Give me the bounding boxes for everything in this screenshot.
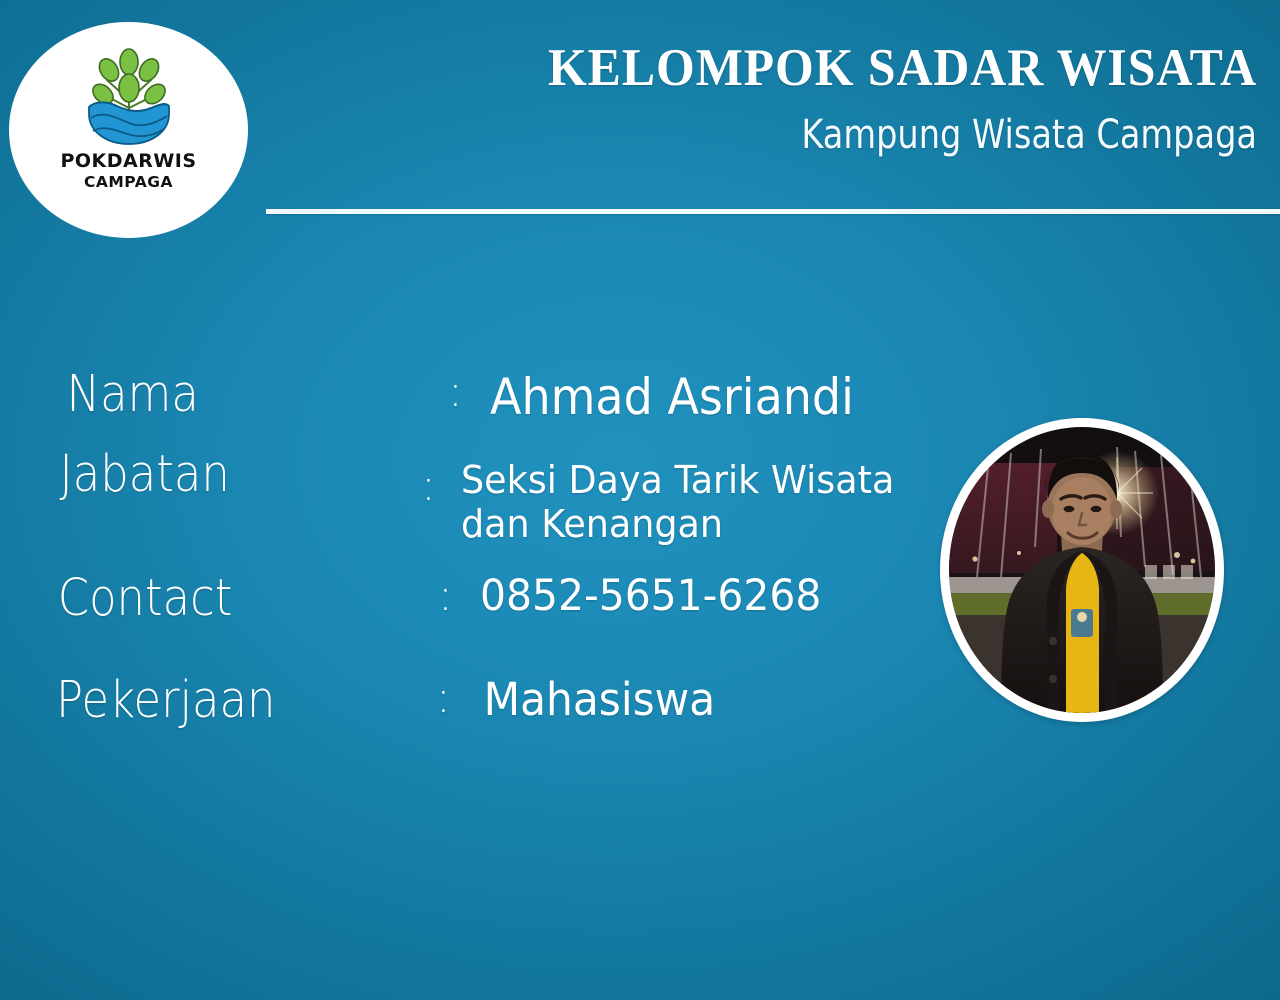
logo-name-sub: CAMPAGA <box>84 175 173 191</box>
logo-name-main: POKDARWIS <box>60 152 196 171</box>
info-separator-contact: : <box>438 572 480 620</box>
pokdarwis-logo-badge: POKDARWIS CAMPAGA <box>9 22 248 238</box>
profile-info-table: Nama : Ahmad Asriandi Jabatan : Seksi Da… <box>56 360 936 727</box>
portrait-illustration <box>949 427 1215 713</box>
info-separator-pekerjaan: : <box>436 674 478 722</box>
info-row-contact: Contact : 0852-5651-6268 <box>56 572 936 626</box>
info-value-nama: Ahmad Asriandi <box>490 368 854 426</box>
info-value-contact: 0852-5651-6268 <box>480 572 821 622</box>
page-title: KELOMPOK SADAR WISATA <box>325 42 1257 95</box>
page-subtitle: Kampung Wisata Campaga <box>424 115 1257 155</box>
profile-photo-frame <box>940 418 1224 722</box>
info-value-jabatan: Seksi Daya Tarik Wisata dan Kenangan <box>461 448 917 546</box>
slide-header: POKDARWIS CAMPAGA KELOMPOK SADAR WISATA … <box>0 0 1280 250</box>
info-row-jabatan: Jabatan : Seksi Daya Tarik Wisata dan Ke… <box>56 448 936 546</box>
info-row-pekerjaan: Pekerjaan : Mahasiswa <box>56 674 936 728</box>
info-separator-nama: : <box>448 368 490 416</box>
info-value-pekerjaan: Mahasiswa <box>478 674 715 726</box>
avatar <box>949 427 1215 713</box>
slide-canvas: POKDARWIS CAMPAGA KELOMPOK SADAR WISATA … <box>0 0 1280 1000</box>
info-label-jabatan: Jabatan <box>56 448 377 502</box>
plant-wave-logo-icon <box>73 44 185 148</box>
info-label-nama: Nama <box>56 368 401 422</box>
header-divider <box>266 209 1280 214</box>
info-row-nama: Nama : Ahmad Asriandi <box>56 368 936 426</box>
info-label-contact: Contact <box>56 572 392 626</box>
info-label-pekerjaan: Pekerjaan <box>56 674 390 728</box>
header-title-block: KELOMPOK SADAR WISATA Kampung Wisata Cam… <box>265 42 1257 155</box>
info-separator-jabatan: : <box>421 448 461 510</box>
